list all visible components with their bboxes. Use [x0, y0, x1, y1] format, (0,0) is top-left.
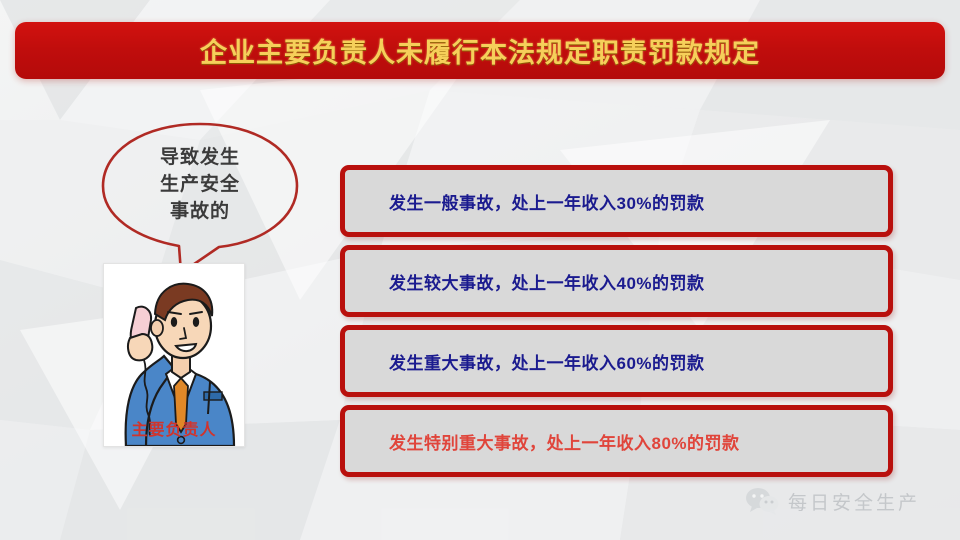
wechat-icon — [745, 487, 779, 515]
fine-list: 发生一般事故，处上一年收入30%的罚款 发生较大事故，处上一年收入40%的罚款 … — [340, 165, 893, 485]
fine-item-text: 发生一般事故，处上一年收入30%的罚款 — [345, 189, 705, 214]
fine-item-general[interactable]: 发生一般事故，处上一年收入30%的罚款 — [340, 165, 893, 237]
fine-item-major[interactable]: 发生较大事故，处上一年收入40%的罚款 — [340, 245, 893, 317]
watermark: 每日安全生产 — [745, 487, 920, 515]
callout-line-2: 生产安全 — [95, 171, 305, 198]
fine-item-serious[interactable]: 发生重大事故，处上一年收入60%的罚款 — [340, 325, 893, 397]
slide-root: 企业主要负责人未履行本法规定职责罚款规定 导致发生 生产安全 事故的 — [0, 0, 960, 540]
fine-item-text: 发生重大事故，处上一年收入60%的罚款 — [345, 349, 705, 374]
title-banner: 企业主要负责人未履行本法规定职责罚款规定 — [15, 22, 945, 79]
fine-item-text: 发生较大事故，处上一年收入40%的罚款 — [345, 269, 705, 294]
callout-line-1: 导致发生 — [95, 144, 305, 171]
watermark-label: 每日安全生产 — [788, 488, 920, 515]
fine-item-text: 发生特别重大事故，处上一年收入80%的罚款 — [345, 429, 740, 454]
person-role-label: 主要负责人 — [104, 416, 244, 440]
callout-text: 导致发生 生产安全 事故的 — [95, 144, 305, 225]
callout-bubble: 导致发生 生产安全 事故的 — [95, 118, 305, 278]
page-title: 企业主要负责人未履行本法规定职责罚款规定 — [200, 31, 760, 70]
fine-item-extraordinary[interactable]: 发生特别重大事故，处上一年收入80%的罚款 — [340, 405, 893, 477]
person-card: 主要负责人 — [103, 263, 245, 447]
callout-line-3: 事故的 — [95, 198, 305, 225]
